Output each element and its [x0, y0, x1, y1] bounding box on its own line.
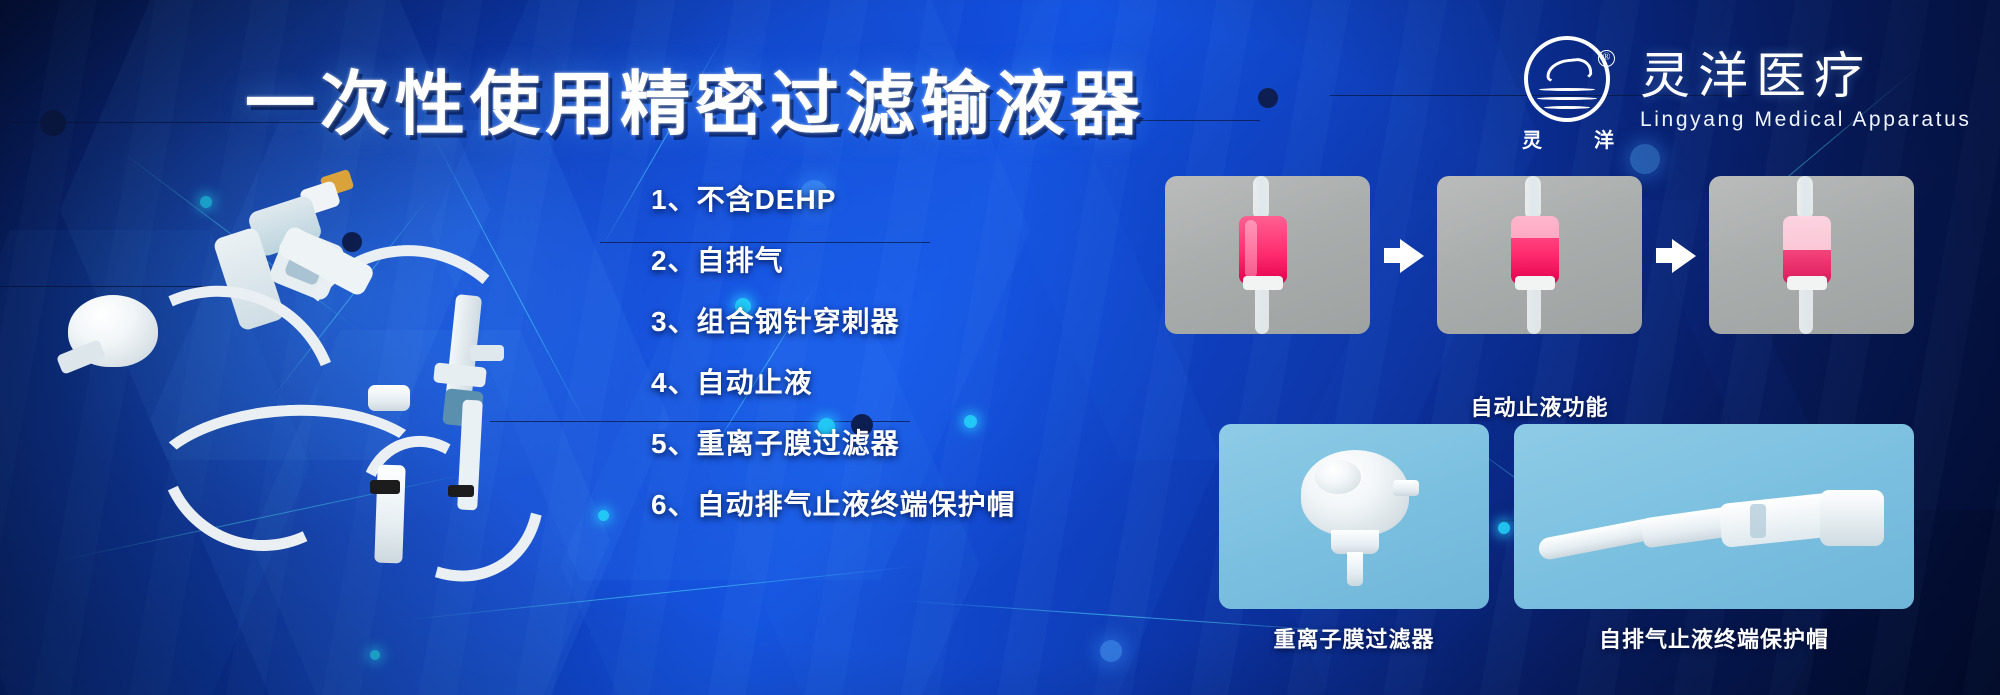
arrow-right-icon-2: [1656, 248, 1672, 263]
page-title: 一次性使用精密过滤输液器: [245, 48, 1145, 149]
registered-mark-icon: ®: [1598, 50, 1615, 67]
feature-item-4: 4、自动止液: [651, 359, 1016, 407]
brand-name-en: Lingyang Medical Apparatus: [1640, 108, 1971, 132]
gallery-bottom-frame-1: [1219, 424, 1489, 609]
product-banner: 一次性使用精密过滤输液器 ® 灵 洋 灵洋医疗 Lingyang Medical…: [0, 0, 2000, 695]
brand-name-cn: 灵洋医疗: [1640, 50, 1971, 103]
feature-item-1: 1、不含DEHP: [651, 176, 1016, 224]
arrow-right-icon-1: [1384, 248, 1400, 263]
gallery-bottom-caption-1: 重离子膜过滤器: [1219, 622, 1489, 654]
feature-list: 1、不含DEHP 2、自排气 3、组合钢针穿刺器 4、自动止液 5、重离子膜过滤…: [651, 176, 1016, 529]
logo-emblem-char-right: 洋: [1594, 124, 1614, 153]
feature-item-2: 2、自排气: [651, 237, 1016, 285]
lingyang-circle-wave-logo-icon: ® 灵 洋: [1522, 36, 1618, 146]
gallery-top-caption: 自动止液功能: [1165, 390, 1914, 422]
gallery-bottom-frame-2: [1514, 424, 1914, 609]
feature-item-5: 5、重离子膜过滤器: [651, 420, 1016, 468]
gallery-top-frame-1: [1165, 176, 1370, 334]
arrow-right-icon-1b: [1400, 239, 1424, 273]
product-hero-image: [30, 135, 670, 555]
feature-item-6: 6、自动排气止液终端保护帽: [651, 481, 1016, 529]
gallery-top-frame-2: [1437, 176, 1642, 334]
gallery-top-frame-3: [1709, 176, 1914, 334]
brand-logo: ® 灵 洋 灵洋医疗 Lingyang Medical Apparatus: [1522, 36, 1971, 146]
gallery-bottom-caption-2: 自排气止液终端保护帽: [1514, 622, 1914, 654]
logo-emblem-char-left: 灵: [1522, 124, 1542, 153]
arrow-right-icon-2b: [1672, 239, 1696, 273]
feature-item-3: 3、组合钢针穿刺器: [651, 298, 1016, 346]
